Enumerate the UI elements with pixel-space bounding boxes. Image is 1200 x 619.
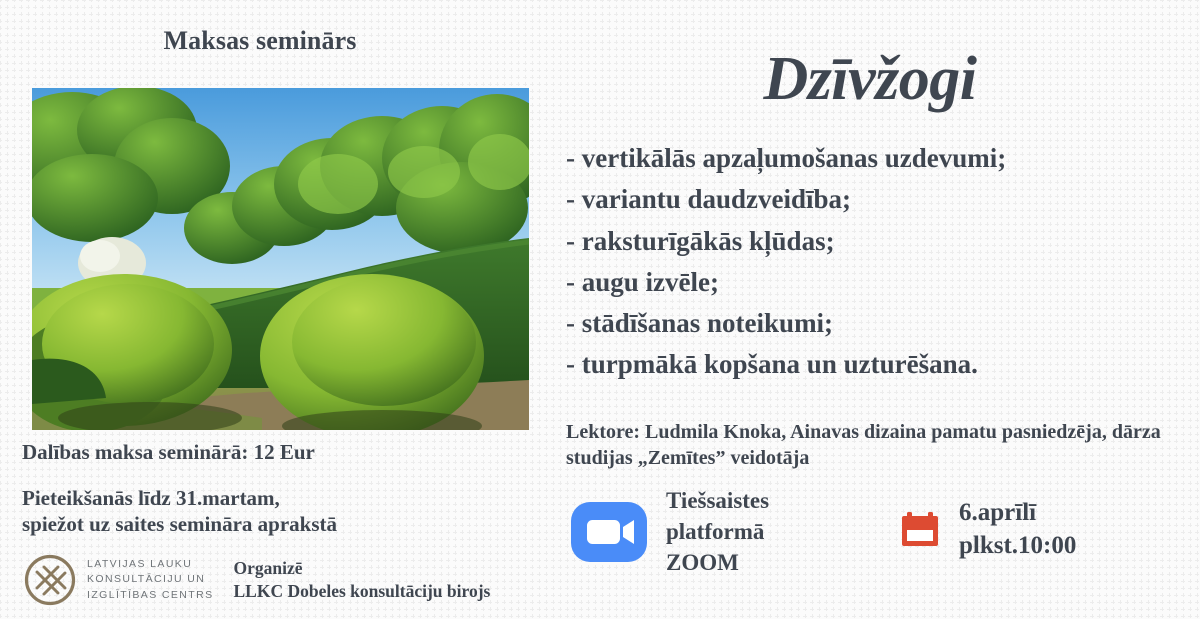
list-item: - variantu daudzveidība; [566,179,1186,220]
seminar-kicker: Maksas seminārs [0,26,520,56]
zoom-platform-badge: Tiešsaistes platformā ZOOM [570,486,769,578]
list-item: - augu izvēle; [566,262,1186,303]
organiser-row: LATVIJAS LAUKU KONSULTĀCIJU UN IZGLĪTĪBA… [22,552,490,608]
organiser-name: LLKC Dobeles konsultāciju birojs [233,580,490,603]
signup-instructions: Pieteikšanās līdz 31.martam, spiežot uz … [22,485,337,538]
topic-list: - vertikālās apzaļumošanas uzdevumi; - v… [566,138,1186,386]
zoom-platform-text: Tiešsaistes platformā ZOOM [666,486,769,578]
lecturer-info: Lektore: Ludmila Knoka, Ainavas dizaina … [566,420,1196,471]
list-item: - raksturīgākās kļūdas; [566,221,1186,262]
organiser-label: Organizē [233,557,490,580]
participation-fee: Dalības maksa seminārā: 12 Eur [22,440,315,465]
llkc-logo: LATVIJAS LAUKU KONSULTĀCIJU UN IZGLĪTĪBA… [22,552,213,608]
list-item: - vertikālās apzaļumošanas uzdevumi; [566,138,1186,179]
llkc-wordmark: LATVIJAS LAUKU KONSULTĀCIJU UN IZGLĪTĪBA… [87,557,213,604]
zoom-video-icon [570,501,648,563]
calendar-icon [898,507,942,551]
event-date-badge: 6.aprīlī plkst.10:00 [898,496,1076,562]
page-title: Dzīvžogi [560,44,1180,115]
hedge-garden-photo [32,88,529,430]
list-item: - stādīšanas noteikumi; [566,303,1186,344]
organiser-text: Organizē LLKC Dobeles konsultāciju biroj… [233,557,490,603]
list-item: - turpmākā kopšana un uzturēšana. [566,344,1186,385]
event-date-text: 6.aprīlī plkst.10:00 [959,496,1076,562]
llkc-circle-lattice-icon [22,552,78,608]
seminar-poster: Maksas seminārs [0,0,1200,619]
